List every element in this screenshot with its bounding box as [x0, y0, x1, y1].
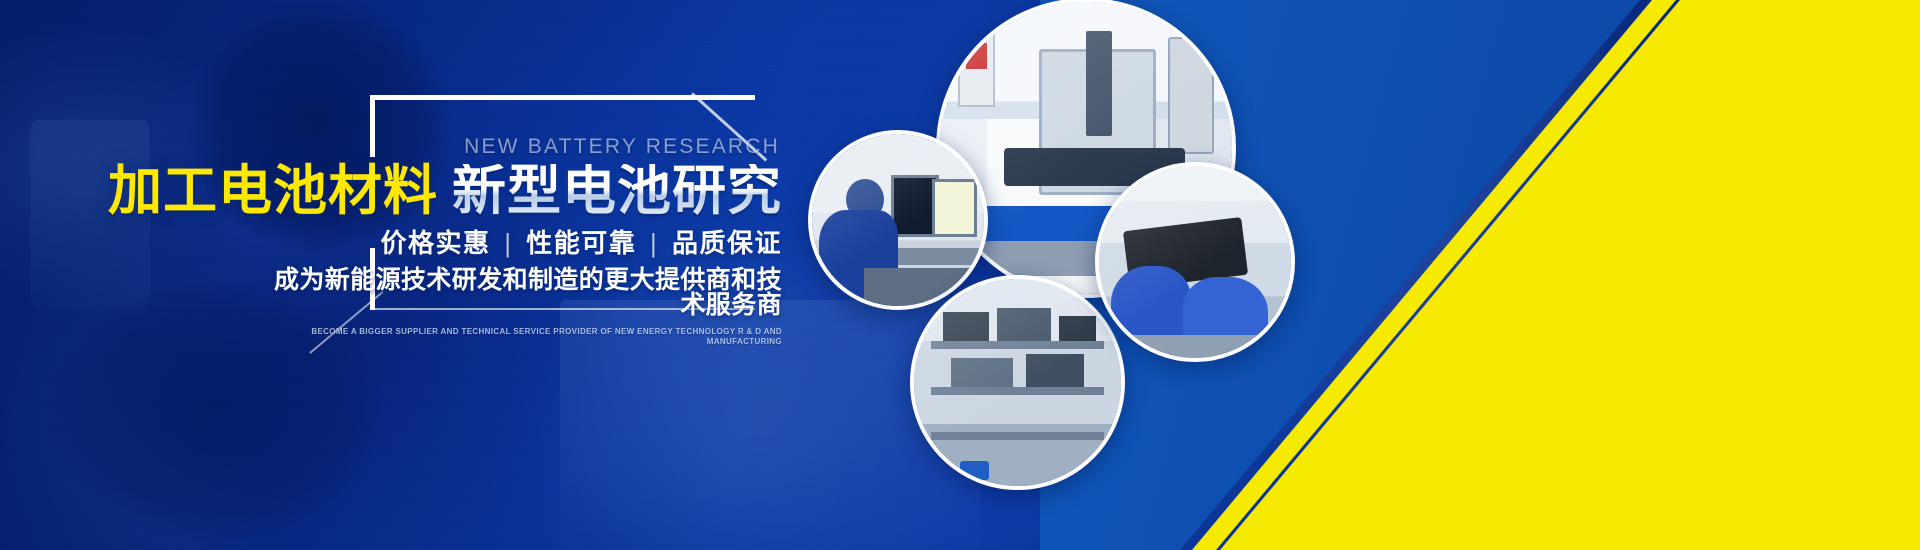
headline: 加工电池材料 新型电池研究 [262, 164, 782, 219]
tagline-separator-1: | [499, 228, 517, 258]
tagline-item-2: 性能可靠 [526, 228, 636, 258]
eyebrow-text: NEW BATTERY RESEARCH [262, 136, 782, 157]
photo-gloss-overlay [1099, 166, 1291, 358]
promo-banner: NEW BATTERY RESEARCH 加工电池材料 新型电池研究 价格实惠 … [0, 0, 1920, 550]
subline-text: 成为新能源技术研发和制造的更大提供商和技术服务商 [262, 268, 782, 318]
tagline: 价格实惠 | 性能可靠 | 品质保证 [262, 230, 782, 256]
tagline-item-3: 品质保证 [672, 228, 782, 258]
headline-yellow-text: 加工电池材料 [108, 164, 438, 219]
photo-collage [790, 0, 1320, 550]
tagline-separator-2: | [645, 228, 663, 258]
tagline-item-1: 价格实惠 [380, 228, 490, 258]
collage-photo-equipment-racks [910, 275, 1125, 490]
photo-gloss-overlay [914, 279, 1121, 486]
english-subline-text: BECOME A BIGGER SUPPLIER AND TECHNICAL S… [262, 327, 782, 348]
collage-photo-electrode-handling [1095, 162, 1295, 362]
headline-white-text: 新型电池研究 [452, 164, 782, 219]
banner-copy: NEW BATTERY RESEARCH 加工电池材料 新型电池研究 价格实惠 … [262, 136, 782, 348]
